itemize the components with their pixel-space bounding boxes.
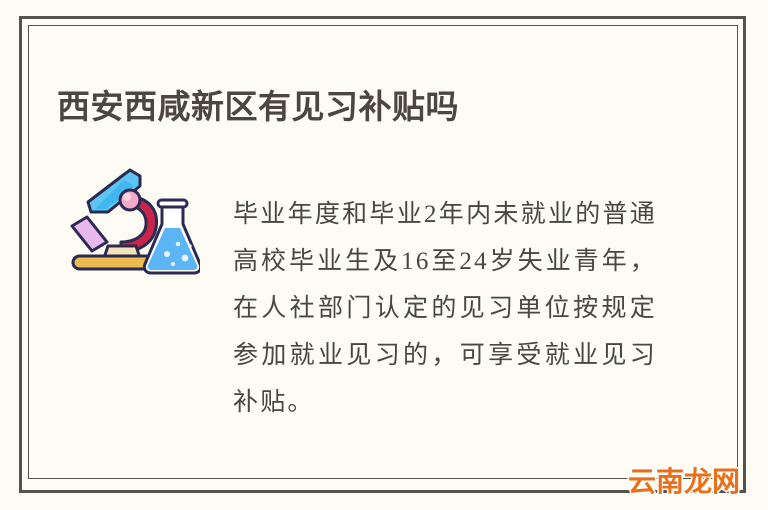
- flask-bubble: [176, 242, 180, 246]
- flask-bubble: [171, 262, 175, 266]
- site-watermark: 云南龙网: [628, 466, 740, 498]
- page-title: 西安西咸新区有见习补贴吗: [57, 85, 459, 129]
- article-paragraph: 毕业年度和毕业2年内未就业的普通高校毕业生及16至24岁失业青年，在人社部门认定…: [233, 191, 657, 426]
- flask-bubble: [188, 244, 192, 248]
- microscope-flask-svg: [66, 166, 200, 276]
- flask-bubble: [182, 255, 189, 262]
- microscope-slide: [72, 217, 107, 251]
- page-root: 西安西咸新区有见习补贴吗: [0, 0, 768, 510]
- microscope-lens-highlight: [123, 193, 131, 201]
- microscope-base: [73, 256, 154, 269]
- microscope-and-flask-illustration: [66, 166, 200, 276]
- flask-bubble: [164, 251, 170, 257]
- article-body: 毕业年度和毕业2年内未就业的普通高校毕业生及16至24岁失业青年，在人社部门认定…: [233, 166, 657, 451]
- microscope-lens-knob: [120, 190, 140, 210]
- flask-rim: [158, 200, 187, 207]
